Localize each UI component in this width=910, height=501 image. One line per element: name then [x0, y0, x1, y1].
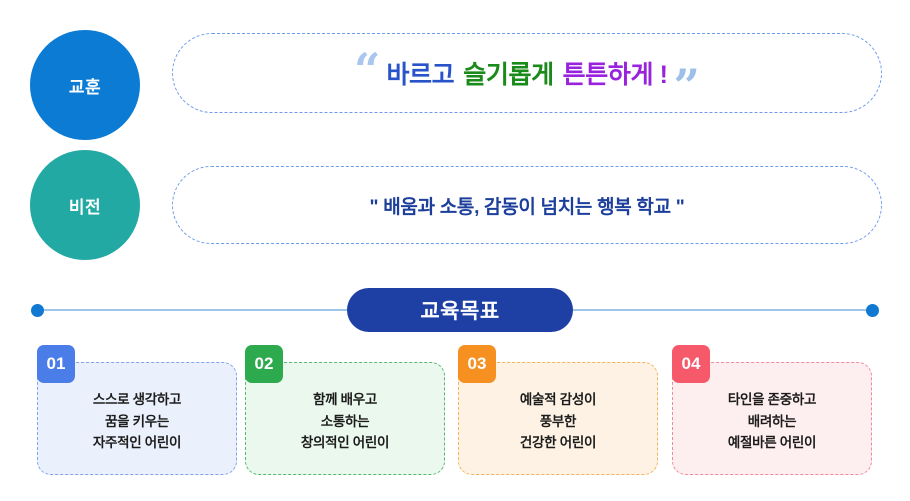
- goal-number-text: 04: [682, 354, 701, 374]
- motto-line: “ 바르고 슬기롭게 튼튼하게 ! ”: [354, 53, 700, 93]
- vision-panel: " 배움과 소통, 감동이 넘치는 행복 학교 ": [172, 166, 882, 244]
- motto-label-badge: 교훈: [30, 30, 140, 140]
- vision-label-badge: 비전: [30, 150, 140, 260]
- open-quote-icon: “: [354, 47, 380, 93]
- goals-divider-dot-right: [866, 304, 879, 317]
- goals-title-text: 교육목표: [420, 295, 499, 325]
- motto-panel: “ 바르고 슬기롭게 튼튼하게 ! ”: [172, 33, 882, 113]
- goals-title-pill: 교육목표: [347, 288, 573, 332]
- motto-segment-2: 슬기롭게: [463, 55, 553, 91]
- goal-card-text: 스스로 생각하고꿈을 키우는자주적인 어린이: [93, 383, 181, 455]
- vision-label-text: 비전: [69, 193, 101, 218]
- goal-card-text: 타인을 존중하고배려하는예절바른 어린이: [728, 383, 816, 455]
- goal-card-text: 함께 배우고소통하는창의적인 어린이: [301, 383, 389, 455]
- goal-number-text: 03: [468, 354, 487, 374]
- goal-number-text: 02: [255, 354, 274, 374]
- goal-card-text: 예술적 감성이풍부한건강한 어린이: [520, 383, 596, 455]
- close-quote-icon: ”: [674, 63, 700, 109]
- goal-number-badge: 02: [245, 345, 283, 383]
- goals-divider-dot-left: [31, 304, 44, 317]
- goal-number-badge: 04: [672, 345, 710, 383]
- school-goals-infographic: 교훈 “ 바르고 슬기롭게 튼튼하게 ! ” 비전 " 배움과 소통, 감동이 …: [0, 0, 910, 501]
- goal-number-text: 01: [47, 354, 66, 374]
- goal-number-badge: 03: [458, 345, 496, 383]
- motto-segment-1: 바르고: [386, 55, 454, 91]
- goal-number-badge: 01: [37, 345, 75, 383]
- motto-label-text: 교훈: [69, 73, 101, 98]
- motto-segment-3: 튼튼하게 !: [563, 55, 668, 91]
- vision-statement: " 배움과 소통, 감동이 넘치는 행복 학교 ": [370, 192, 685, 219]
